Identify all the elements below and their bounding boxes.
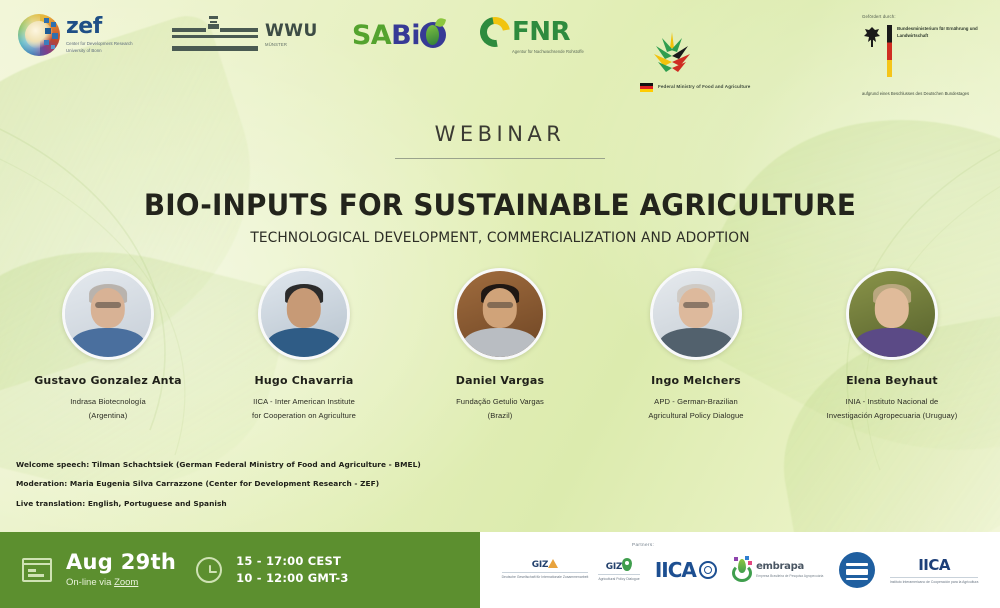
speaker-card: Elena Beyhaut INIA - Instituto Nacional … xyxy=(794,268,990,424)
clock-icon xyxy=(196,557,222,583)
note-moderation: Moderation: Maria Eugenia Silva Carrazzo… xyxy=(16,479,636,488)
left-logo-group: zef Center for Development Research Univ… xyxy=(18,14,584,56)
embrapa-mark-icon xyxy=(732,558,752,582)
fnr-swoosh-icon xyxy=(480,17,510,47)
speaker-org-line: APD - German-Brazilian xyxy=(598,395,794,409)
headline-divider xyxy=(395,158,605,159)
note-live-translation: Live translation: English, Portuguese an… xyxy=(16,499,636,508)
sabio-wordmark-sa: SA xyxy=(352,20,391,51)
speaker-org-line: for Cooperation on Agriculture xyxy=(206,409,402,423)
ministry-footnote: aufgrund eines Beschlusses des Deutschen… xyxy=(862,91,992,98)
avatar xyxy=(454,268,546,360)
fnr-logo: FNR Agentur für Nachwachsende Rohstoffe xyxy=(480,17,584,54)
federal-eagle-icon xyxy=(862,25,882,49)
partner-logo-bar: Partners: GIZ Deutsche Gesellschaft für … xyxy=(480,532,1000,608)
speaker-name: Ingo Melchers xyxy=(598,374,794,387)
webinar-poster: zef Center for Development Research Univ… xyxy=(0,0,1000,608)
apd-word-text: GIZ xyxy=(606,562,622,572)
event-time-block: 15 - 17:00 CEST 10 - 12:00 GMT-3 xyxy=(236,553,348,586)
german-flag-icon xyxy=(640,83,653,92)
embrapa-subtitle: Empresa Brasileira de Pesquisa Agropecuá… xyxy=(756,574,823,579)
embrapa-wordmark: embrapa xyxy=(756,561,823,572)
zef-logo: zef Center for Development Research Univ… xyxy=(18,14,140,56)
webinar-kicker-block: WEBINAR xyxy=(0,122,1000,159)
zef-wordmark: zef xyxy=(66,16,140,38)
event-date: Aug 29th xyxy=(66,552,176,573)
webinar-kicker: WEBINAR xyxy=(0,122,1000,146)
speaker-org-line: Fundação Getulio Vargas xyxy=(402,395,598,409)
event-details-bar: Aug 29th On-line via Zoom 15 - 17:00 CES… xyxy=(0,532,480,608)
zef-pixel-dots-icon xyxy=(42,16,62,54)
ministry-kicker: Gefördert durch: xyxy=(862,14,992,19)
bmel-name: Federal Ministry of Food and Agriculture xyxy=(658,84,750,91)
wwu-bars-icon xyxy=(172,14,258,56)
zoom-link[interactable]: Zoom xyxy=(114,577,138,588)
giz-subtitle: Deutsche Gesellschaft für Internationale… xyxy=(502,572,589,580)
wwu-logo: WWU MÜNSTER xyxy=(172,14,318,56)
bmel-logo: Federal Ministry of Food and Agriculture xyxy=(640,28,850,92)
fnr-subtitle: Agentur für Nachwachsende Rohstoffe xyxy=(512,49,584,54)
speaker-name: Hugo Chavarria xyxy=(206,374,402,387)
lola-subtitle: Instituto Interamericano de Cooperación … xyxy=(890,577,979,584)
speaker-name: Daniel Vargas xyxy=(402,374,598,387)
zef-subtitle: Center for Development Research Universi… xyxy=(66,41,140,54)
speaker-name: Gustavo Gonzalez Anta xyxy=(10,374,206,387)
note-welcome-speech: Welcome speech: Tilman Schachtsiek (Germ… xyxy=(16,460,636,469)
page-subtitle: TECHNOLOGICAL DEVELOPMENT, COMMERCIALIZA… xyxy=(25,230,975,246)
avatar xyxy=(258,268,350,360)
event-time-cest: 15 - 17:00 CEST xyxy=(236,553,348,570)
calendar-icon xyxy=(22,558,52,582)
circle-partner-logo xyxy=(839,552,875,588)
speaker-name: Elena Beyhaut xyxy=(794,374,990,387)
giz-word-text: GIZ xyxy=(532,560,548,570)
fnr-wordmark: FNR xyxy=(512,17,584,47)
giz-triangle-icon xyxy=(548,559,558,568)
sabio-wordmark-bi: Bi xyxy=(391,20,420,51)
iica-lola-logo: IICA Instituto Interamericano de Coopera… xyxy=(890,556,979,584)
speaker-list: Gustavo Gonzalez Anta Indrasa Biotecnolo… xyxy=(10,268,990,424)
lola-wordmark: IICA xyxy=(890,556,979,574)
wwu-subtitle: MÜNSTER xyxy=(265,43,318,47)
iica-logo: IICA xyxy=(655,558,717,582)
apd-subtitle: Agricultural Policy Dialogue xyxy=(598,574,639,582)
event-time-gmt: 10 - 12:00 GMT-3 xyxy=(236,570,348,587)
event-format: On-line via Zoom xyxy=(66,578,176,588)
speaker-org-line: Investigación Agropecuaria (Uruguay) xyxy=(794,409,990,423)
speaker-card: Ingo Melchers APD - German-Brazilian Agr… xyxy=(598,268,794,424)
page-title: BIO-INPUTS FOR SUSTAINABLE AGRICULTURE xyxy=(20,188,980,222)
location-pin-icon xyxy=(622,558,632,571)
wwu-wordmark: WWU xyxy=(265,23,318,40)
giz-logo: GIZ Deutsche Gesellschaft für Internatio… xyxy=(502,558,640,582)
speaker-card: Gustavo Gonzalez Anta Indrasa Biotecnolo… xyxy=(10,268,206,424)
apd-wordmark: GIZ xyxy=(598,558,639,572)
embrapa-logo: embrapa Empresa Brasileira de Pesquisa A… xyxy=(732,558,823,582)
iica-wordmark: IICA xyxy=(655,558,696,582)
german-flag-bar-icon xyxy=(887,25,892,77)
ministry-name: Bundesministerium für Ernährung und Land… xyxy=(897,25,992,39)
avatar xyxy=(846,268,938,360)
german-ministry-logo: Gefördert durch: Bundesministerium für E… xyxy=(862,14,992,98)
partners-kicker: Partners: xyxy=(632,542,654,547)
sponsor-logo-bar: zef Center for Development Research Univ… xyxy=(0,0,1000,118)
speaker-card: Daniel Vargas Fundação Getulio Vargas (B… xyxy=(402,268,598,424)
avatar xyxy=(62,268,154,360)
bmel-plant-icon xyxy=(640,28,704,74)
sabio-globe-icon xyxy=(420,22,446,48)
event-format-prefix: On-line via xyxy=(66,577,114,588)
speaker-org-line: (Brazil) xyxy=(402,409,598,423)
speaker-org-line: IICA - Inter American Institute xyxy=(206,395,402,409)
iica-seal-icon xyxy=(699,561,717,579)
speaker-org-line: (Argentina) xyxy=(10,409,206,423)
speaker-card: Hugo Chavarria IICA - Inter American Ins… xyxy=(206,268,402,424)
event-notes: Welcome speech: Tilman Schachtsiek (Germ… xyxy=(16,460,636,518)
sabio-logo: SABi xyxy=(352,20,446,51)
speaker-org-line: Agricultural Policy Dialogue xyxy=(598,409,794,423)
avatar xyxy=(650,268,742,360)
giz-wordmark: GIZ xyxy=(502,559,589,570)
event-date-block: Aug 29th On-line via Zoom xyxy=(66,552,176,588)
speaker-org-line: Indrasa Biotecnología xyxy=(10,395,206,409)
speaker-org-line: INIA - Instituto Nacional de xyxy=(794,395,990,409)
